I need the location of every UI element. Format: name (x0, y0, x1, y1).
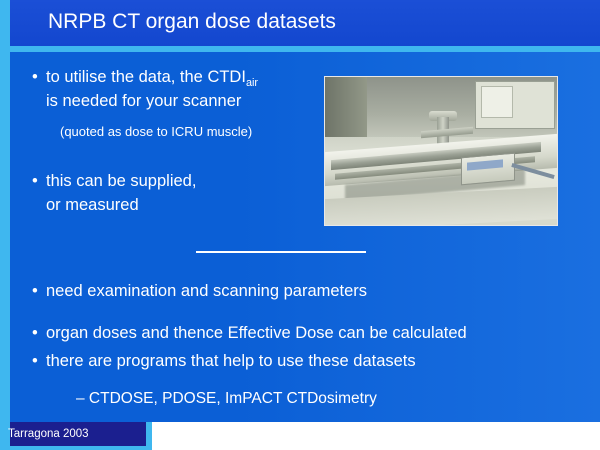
bullet-2-line1-text: this can be supplied, (46, 172, 196, 190)
bullet-marker: • (32, 170, 46, 192)
bullet-marker: • (32, 280, 46, 302)
sub-note: (quoted as dose to ICRU muscle) (60, 124, 252, 139)
sub-bullet-programs: – CTDOSE, PDOSE, ImPACT CTDosimetry (76, 390, 377, 408)
bullet-5-text: there are programs that help to use thes… (46, 352, 416, 370)
left-accent-strip (0, 0, 10, 450)
bullet-item-5: •there are programs that help to use the… (32, 350, 416, 372)
bullet-1-subscript: air (246, 77, 258, 89)
bullet-item-4: •organ doses and thence Effective Dose c… (32, 322, 467, 344)
bullet-4-text: organ doses and thence Effective Dose ca… (46, 324, 467, 342)
footer-tab-accent (146, 422, 152, 446)
bullet-marker: • (32, 66, 46, 88)
bullet-1-line2: is needed for your scanner (46, 90, 241, 112)
horizontal-separator (196, 251, 366, 253)
footer-accent-strip (0, 446, 152, 450)
bullet-1-line1-text: to utilise the data, the CTDI (46, 68, 246, 86)
page-title: NRPB CT organ dose datasets (48, 10, 336, 34)
bullet-item-2: •this can be supplied, (32, 170, 196, 192)
bullet-marker: • (32, 322, 46, 344)
slide: NRPB CT organ dose datasets •to utilise … (0, 0, 600, 450)
bullet-marker: • (32, 350, 46, 372)
title-underline-accent (0, 46, 600, 52)
bullet-3-text: need examination and scanning parameters (46, 282, 367, 300)
slide-number: 58 (569, 428, 582, 442)
bullet-item-3: •need examination and scanning parameter… (32, 280, 367, 302)
bullet-2-line2: or measured (46, 194, 139, 216)
footer-conference-label: Tarragona 2003 (8, 428, 89, 440)
slide-body: •to utilise the data, the CTDIair is nee… (0, 52, 600, 422)
bullet-item-1: •to utilise the data, the CTDIair (32, 66, 258, 90)
